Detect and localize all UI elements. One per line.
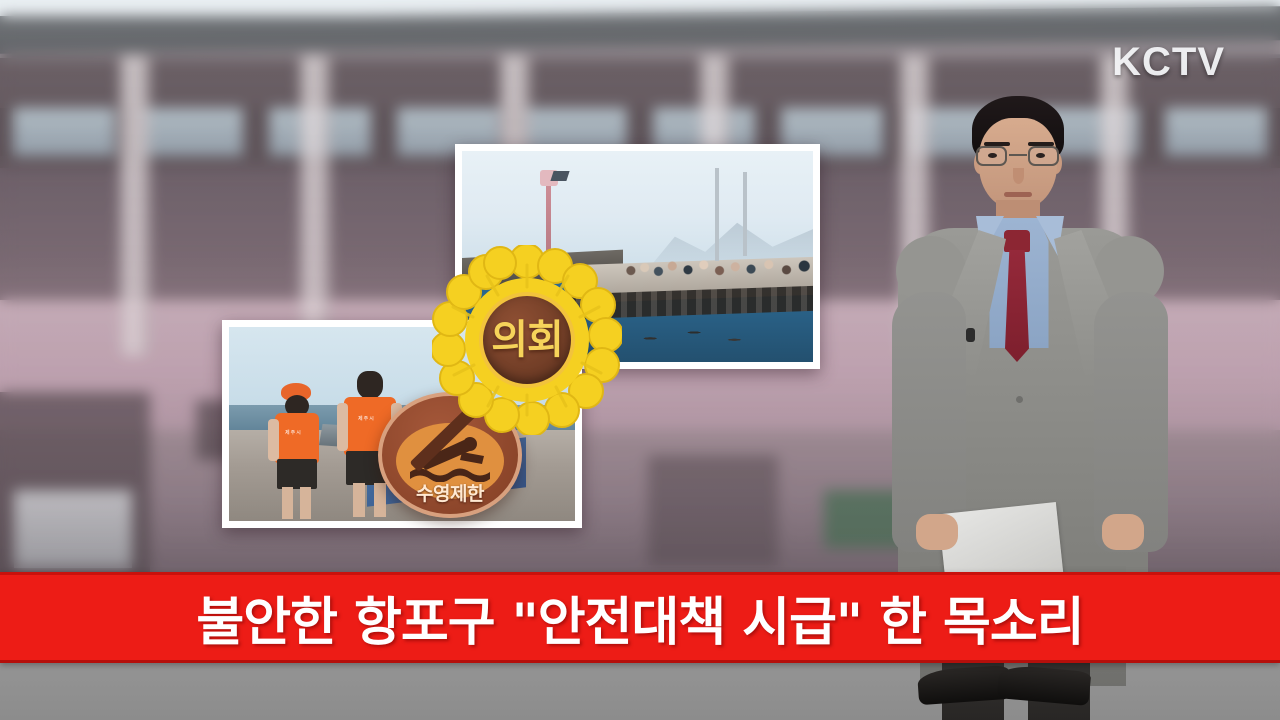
official-arm [337, 403, 348, 451]
headline-banner: 불안한 항포구 "안전대책 시급" 한 목소리 [0, 572, 1280, 663]
official-shirt: 제주시 [275, 413, 319, 463]
official-leg [282, 487, 293, 519]
official-shirt-logo: 제주시 [285, 429, 302, 436]
banner-bottom-edge [0, 660, 1280, 663]
anchor-jacket-button [1016, 396, 1023, 403]
lapel-microphone-icon [966, 328, 975, 342]
headline-text: 불안한 항포구 "안전대책 시급" 한 목소리 [196, 580, 1083, 655]
council-emblem-core: 의회 [479, 292, 575, 388]
official-leg [300, 487, 311, 519]
anchor-tie-knot [1004, 230, 1030, 252]
anchor-necktie [1005, 250, 1029, 362]
official-head [357, 371, 383, 399]
official-arm [268, 419, 279, 461]
pier-solar-panel [550, 171, 569, 181]
pier-crowd [623, 244, 813, 282]
glasses-bridge [1009, 154, 1027, 156]
official-leg [353, 483, 365, 517]
anchor-hand [916, 514, 958, 550]
no-swimming-label: 수영제한 [382, 479, 518, 506]
kctv-channel-logo: KCTV [1112, 40, 1225, 85]
anchor-nose [1013, 168, 1024, 184]
official-shorts [277, 459, 317, 489]
official-shirt-logo: 제주시 [358, 415, 375, 422]
anchor-eye [988, 153, 997, 158]
pier-lamp-post [546, 178, 551, 254]
banner-top-edge [0, 572, 1280, 575]
shore-official-figure: 제주시 [267, 383, 329, 521]
council-sunflower-emblem: 의회 [432, 245, 622, 435]
council-emblem-text: 의회 [491, 320, 563, 360]
broadcast-frame: KCTV [0, 0, 1280, 720]
anchor-eye [1036, 153, 1045, 158]
anchor-hand [1102, 514, 1144, 550]
anchor-shoe [997, 664, 1092, 706]
anchor-mouth [1004, 192, 1032, 197]
anchor-arm [1094, 292, 1168, 552]
